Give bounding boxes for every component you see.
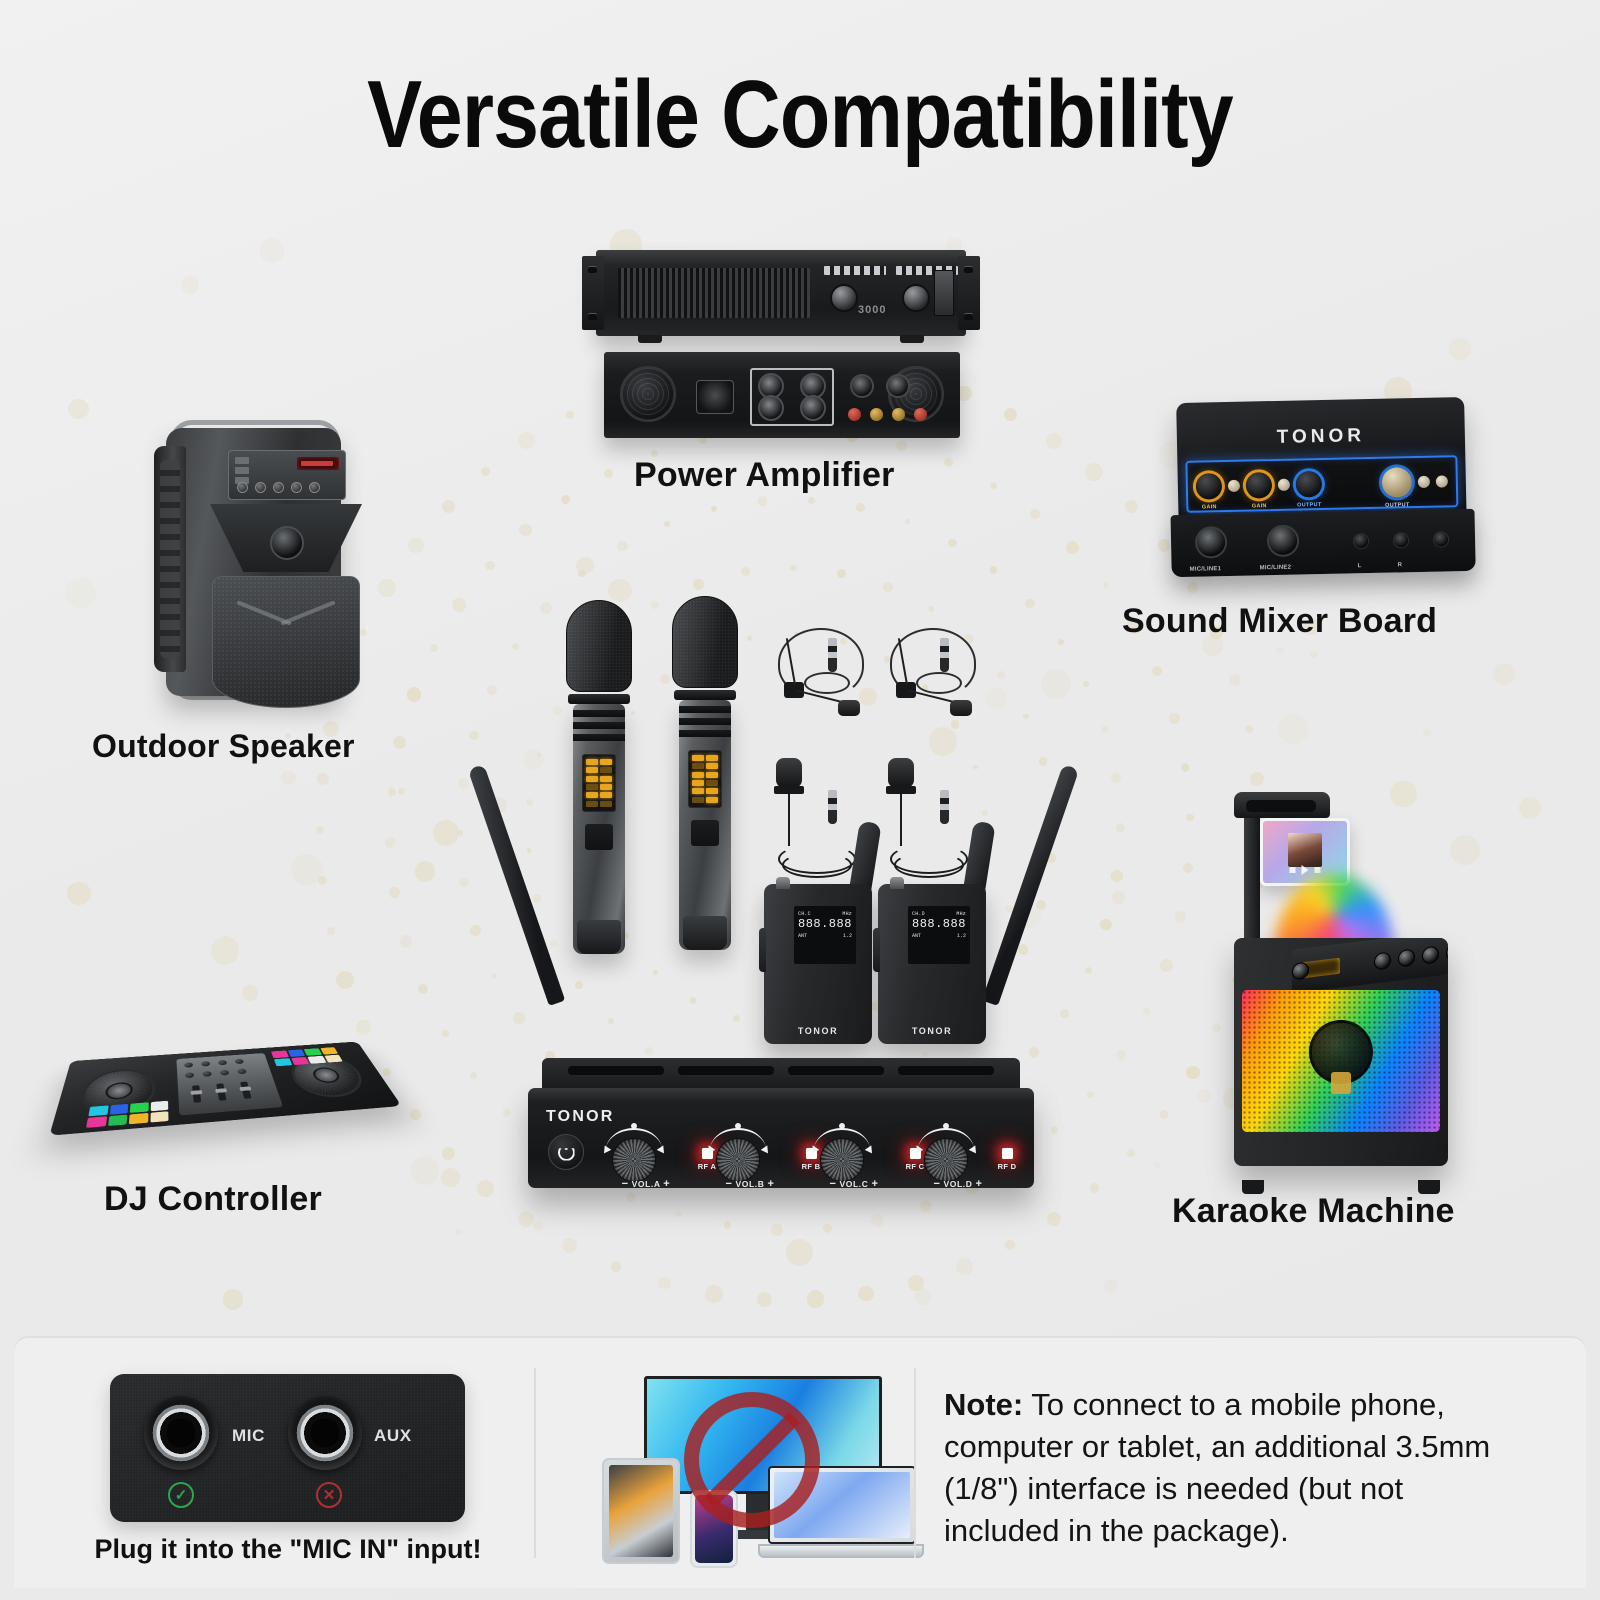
speaker-grille xyxy=(212,576,360,708)
decorative-dot xyxy=(1101,726,1108,733)
decorative-dot xyxy=(1187,582,1198,593)
jack-panel-caption: Plug it into the "MIC IN" input! xyxy=(28,1534,548,1565)
decorative-dot xyxy=(920,1200,932,1212)
decorative-dot xyxy=(503,1109,511,1117)
decorative-dot xyxy=(1116,1050,1126,1060)
power-icon xyxy=(558,1144,575,1161)
mixer-jack-label-1: MIC/LINE1 xyxy=(1190,566,1222,573)
volume-knob-b[interactable] xyxy=(716,1138,760,1182)
decorative-dot xyxy=(561,495,570,504)
decorative-dot xyxy=(1039,757,1047,765)
decorative-dot xyxy=(470,925,481,936)
decorative-dot xyxy=(948,539,957,548)
bodypack-level: 1.2 xyxy=(843,933,852,939)
decorative-dot xyxy=(537,753,542,758)
volume-knob-d[interactable] xyxy=(924,1138,968,1182)
decorative-dot xyxy=(481,467,490,476)
decorative-dot xyxy=(771,1224,783,1236)
decorative-dot xyxy=(457,830,464,837)
mic-grille-head xyxy=(672,596,738,688)
dj-pad xyxy=(287,1049,305,1057)
mic-indicator-window xyxy=(691,820,719,846)
mic-band xyxy=(573,710,625,717)
receiver-charging-slot xyxy=(568,1066,664,1075)
receiver-front-face: TONOR − VOL.A + RF A xyxy=(528,1088,1034,1188)
headset-microphone-2 xyxy=(884,624,984,734)
karaoke-knob xyxy=(1446,943,1448,962)
mic-grille-head xyxy=(566,600,632,692)
decorative-dot xyxy=(733,1015,740,1022)
decorative-dot xyxy=(1183,863,1193,873)
decorative-dot xyxy=(442,1030,449,1037)
dj-channel-fader xyxy=(216,1083,226,1100)
plus-icon: + xyxy=(663,1178,670,1190)
decorative-dot xyxy=(418,984,429,995)
aux-input-jack[interactable] xyxy=(288,1396,362,1470)
decorative-dot xyxy=(1046,433,1062,449)
dj-pad xyxy=(304,1048,322,1056)
receiver-power-button[interactable] xyxy=(548,1134,584,1170)
decorative-dot xyxy=(956,1258,973,1275)
decorative-dot xyxy=(317,773,329,785)
mic-aux-jack-panel: MIC ✓ AUX ✕ xyxy=(110,1374,465,1522)
decorative-dot xyxy=(905,519,910,524)
dj-knob xyxy=(218,1060,227,1065)
speaker-tweeter xyxy=(270,526,304,560)
decorative-dot xyxy=(242,985,259,1002)
dj-pad xyxy=(130,1102,149,1113)
decorative-dot xyxy=(608,1018,614,1024)
mixer-brand-logo: TONOR xyxy=(1177,423,1465,451)
decorative-dot xyxy=(181,276,199,294)
dj-pad xyxy=(320,1047,338,1055)
decorative-dot xyxy=(385,837,396,848)
rack-ear-left xyxy=(582,256,604,330)
decorative-dot xyxy=(68,399,89,420)
note-body: To connect to a mobile phone, computer o… xyxy=(944,1387,1490,1548)
receiver-charging-slot xyxy=(898,1066,994,1075)
dj-knob xyxy=(237,1069,247,1075)
knob-dot xyxy=(943,1123,949,1129)
mixer-headphone-jack xyxy=(1433,531,1449,547)
decorative-dot xyxy=(1083,681,1089,687)
karaoke-logo xyxy=(1331,1072,1351,1094)
label-sound-mixer-board: Sound Mixer Board xyxy=(1122,602,1437,641)
decorative-dot xyxy=(430,644,438,652)
decorative-dot xyxy=(260,238,284,262)
decorative-dot xyxy=(604,469,613,478)
decorative-dot xyxy=(576,557,593,574)
volume-label-d: − VOL.D + xyxy=(910,1178,1006,1190)
speaker-button xyxy=(235,457,249,464)
mic-collar xyxy=(674,690,736,700)
media-controls xyxy=(1290,865,1321,875)
unsupported-devices-illustration xyxy=(600,1372,916,1568)
decorative-dot xyxy=(316,826,325,835)
lav-capsule xyxy=(776,758,802,788)
infographic-page: Versatile Compatibility xyxy=(0,0,1600,1600)
speaker-knob xyxy=(237,482,248,493)
decorative-dot xyxy=(1029,1047,1040,1058)
mixer-jack-label-4: R xyxy=(1398,562,1403,568)
decorative-dot xyxy=(837,569,846,578)
bodypack-belt-clip xyxy=(759,928,766,972)
receiver-channel-a: − VOL.A + xyxy=(598,1132,694,1188)
decorative-dot xyxy=(856,503,866,513)
volume-label-a: − VOL.A + xyxy=(598,1178,694,1190)
decorative-dot xyxy=(410,1109,421,1120)
mixer-jack-label-3: L xyxy=(1358,563,1362,569)
decorative-dot xyxy=(807,1290,825,1308)
mixer-gain-knob-2: GAIN xyxy=(1246,472,1273,499)
decorative-dot xyxy=(1186,1066,1200,1080)
decorative-dot xyxy=(1087,1091,1094,1098)
mixer-knob-label: GAIN xyxy=(1202,504,1217,510)
amplifier-led-strip xyxy=(824,266,886,275)
decorative-dot xyxy=(660,674,670,684)
decorative-dot xyxy=(1104,1279,1118,1293)
lav-35mm-plug xyxy=(940,790,949,824)
decorative-dot xyxy=(1493,663,1515,685)
speaker-knob xyxy=(309,482,320,493)
decorative-dot xyxy=(400,935,413,948)
bodypack-transmitter-2: CH.D MHz 888.888 ANT 1.2 TONOR xyxy=(878,884,986,1044)
decorative-dot xyxy=(645,1047,652,1054)
rf-led-d xyxy=(1002,1148,1013,1159)
dj-controller-image xyxy=(58,1000,398,1170)
wireless-receiver-base: TONOR − VOL.A + RF A xyxy=(528,1058,1034,1188)
bodypack-case: CH.D MHz 888.888 ANT 1.2 TONOR xyxy=(878,884,986,1044)
decorative-dot xyxy=(1519,797,1541,819)
decorative-dot xyxy=(871,1214,884,1227)
decorative-dot xyxy=(575,981,584,990)
note-prefix: Note: xyxy=(944,1387,1023,1422)
bodypack-brand-logo: TONOR xyxy=(764,1026,872,1036)
decorative-dot xyxy=(518,1211,534,1227)
lavalier-microphone-1 xyxy=(772,758,862,878)
decorative-dot xyxy=(442,500,455,513)
decorative-dot xyxy=(540,602,552,614)
tablet-image xyxy=(602,1458,680,1564)
decorative-dot xyxy=(1116,823,1125,832)
outdoor-speaker-image xyxy=(148,410,363,710)
play-icon xyxy=(1302,865,1309,875)
band-divider-left xyxy=(534,1368,536,1558)
decorative-dot xyxy=(883,582,893,592)
knob-dot xyxy=(839,1123,845,1129)
decorative-dot xyxy=(411,1156,440,1185)
decorative-dot xyxy=(67,882,91,906)
mic-band xyxy=(679,730,731,737)
mic-collar xyxy=(568,694,630,704)
mixer-top-shell: TONOR GAIN GAIN OUTPUT OUTPUT xyxy=(1176,397,1466,521)
power-amplifier-rear-image xyxy=(604,352,960,438)
receiver-charging-slot xyxy=(788,1066,884,1075)
decorative-dot xyxy=(1025,599,1035,609)
amplifier-power-inlet xyxy=(696,380,734,414)
amplifier-model-number: 3000 xyxy=(858,304,886,316)
decorative-dot xyxy=(990,482,997,489)
decorative-dot xyxy=(741,567,750,576)
decorative-dot xyxy=(986,688,1007,709)
check-icon: ✓ xyxy=(168,1482,194,1508)
aux-jack-label: AUX xyxy=(374,1426,412,1446)
rack-ear-right xyxy=(958,256,980,330)
dj-pad xyxy=(108,1115,128,1126)
mic-indicator-window xyxy=(585,824,613,850)
decorative-dot xyxy=(553,706,562,715)
decorative-dot xyxy=(1310,651,1318,659)
album-artwork xyxy=(1288,833,1322,867)
volume-text-d: VOL.D xyxy=(944,1179,973,1189)
binding-post xyxy=(848,408,861,421)
binding-post xyxy=(870,408,883,421)
trs-input xyxy=(800,395,826,421)
decorative-dot xyxy=(1423,729,1431,737)
decorative-dot xyxy=(626,1192,636,1202)
volume-text-c: VOL.C xyxy=(840,1179,869,1189)
decorative-dot xyxy=(550,940,557,947)
karaoke-knob xyxy=(1398,948,1415,967)
decorative-dot xyxy=(1169,713,1180,724)
mixer-echo-knob xyxy=(1436,475,1448,487)
dj-knob xyxy=(184,1062,193,1068)
decorative-dot xyxy=(1127,1149,1135,1157)
speaker-knob-row xyxy=(237,482,320,493)
decorative-dot xyxy=(1005,1240,1015,1250)
bodypack-transmitter-1: CH.C MHz 888.888 ANT 1.2 TONOR xyxy=(764,884,872,1044)
minus-icon: − xyxy=(934,1178,941,1190)
decorative-dot xyxy=(724,1221,732,1229)
bodypack-display: CH.C MHz 888.888 ANT 1.2 xyxy=(794,906,856,964)
karaoke-knob xyxy=(1374,951,1391,970)
dj-channel-fader xyxy=(192,1085,201,1103)
bodypack-mic-input xyxy=(890,877,904,889)
label-dj-controller: DJ Controller xyxy=(104,1180,322,1219)
decorative-dot xyxy=(858,1286,873,1301)
dj-knob xyxy=(202,1071,212,1077)
decorative-dot xyxy=(758,496,768,506)
speaker-display xyxy=(297,457,339,470)
next-icon xyxy=(1315,867,1321,873)
rf-indicator-d: RF D xyxy=(988,1148,1026,1171)
decorative-dot xyxy=(491,973,497,979)
decorative-dot xyxy=(990,566,998,574)
decorative-dot xyxy=(915,1288,932,1305)
headset-35mm-plug xyxy=(828,638,837,672)
decorative-dot xyxy=(281,771,295,785)
previous-icon xyxy=(1290,867,1296,873)
decorative-dot xyxy=(1229,674,1241,686)
bodypack-frequency: 888.888 xyxy=(912,917,966,932)
handheld-microphone-1 xyxy=(566,600,632,954)
decorative-dot xyxy=(1160,959,1173,972)
lav-clip xyxy=(886,786,916,794)
dj-deck-surface xyxy=(49,1042,401,1136)
decorative-dot xyxy=(1018,944,1029,955)
decorative-dot xyxy=(808,497,815,504)
decorative-dot xyxy=(693,579,704,590)
volume-label-c: − VOL.C + xyxy=(806,1178,902,1190)
decorative-dot xyxy=(1060,1009,1069,1018)
decorative-dot xyxy=(458,778,470,790)
decorative-dot xyxy=(526,799,533,806)
decorative-dot xyxy=(578,570,585,577)
decorative-dot xyxy=(611,1261,622,1272)
dj-pad xyxy=(274,1058,292,1066)
bodypack-brand-logo: TONOR xyxy=(878,1026,986,1036)
decorative-dot xyxy=(1198,1089,1212,1103)
amplifier-combo-input-group xyxy=(750,368,834,426)
decorative-dot xyxy=(1047,1212,1061,1226)
mixer-line-out-l xyxy=(1353,533,1369,549)
decorative-dot xyxy=(527,848,532,853)
decorative-dot xyxy=(690,997,697,1004)
decorative-dot xyxy=(757,1292,772,1307)
mixer-line-out-r xyxy=(1393,532,1409,548)
dj-knob xyxy=(201,1061,210,1067)
mixer-inst-knob-1 xyxy=(1228,480,1240,492)
bodypack-antenna-indicator: ANT xyxy=(912,933,921,939)
bodypack-case: CH.C MHz 888.888 ANT 1.2 TONOR xyxy=(764,884,872,1044)
mixer-gain-knob-1: GAIN xyxy=(1196,473,1223,500)
decorative-dot xyxy=(1112,891,1125,904)
decorative-dot xyxy=(1058,639,1064,645)
dj-channel-fader xyxy=(240,1082,251,1099)
decorative-dot xyxy=(908,1275,925,1292)
mixer-inst-knob-2 xyxy=(1278,479,1290,491)
rf-label-d: RF D xyxy=(988,1162,1026,1171)
headset-earloop xyxy=(804,672,850,694)
speaker-buttons xyxy=(235,457,249,484)
decorative-dot xyxy=(415,861,436,882)
mic-battery-cap xyxy=(577,920,621,954)
decorative-dot xyxy=(562,1238,577,1253)
bodypack-antenna-indicator: ANT xyxy=(798,933,807,939)
dj-pad xyxy=(307,1056,325,1064)
decorative-dot xyxy=(487,685,497,695)
amplifier-foot xyxy=(638,335,662,343)
volume-knob-a[interactable] xyxy=(612,1138,656,1182)
minus-icon: − xyxy=(622,1178,629,1190)
mixer-front-panel: MIC/LINE1 MIC/LINE2 L R xyxy=(1170,509,1475,577)
decorative-dot xyxy=(896,441,907,452)
decorative-dot xyxy=(442,1147,455,1160)
dj-pad xyxy=(86,1116,107,1128)
speaker-body xyxy=(166,428,341,696)
mixer-master-output-knob: OUTPUT xyxy=(1382,467,1413,498)
receiver-antenna-left xyxy=(468,764,565,1006)
bottom-info-band: MIC ✓ AUX ✕ Plug it into the "MIC IN" in… xyxy=(14,1338,1586,1588)
headset-capsule xyxy=(950,700,972,716)
decorative-dot xyxy=(1160,1110,1169,1119)
lav-cable xyxy=(788,794,790,846)
plus-icon: + xyxy=(767,1178,774,1190)
speakon-output xyxy=(886,374,910,398)
label-outdoor-speaker: Outdoor Speaker xyxy=(92,728,355,765)
decorative-dot xyxy=(533,1221,543,1231)
mixer-knob-label: GAIN xyxy=(1252,503,1267,509)
mixer-knob-label: OUTPUT xyxy=(1385,502,1410,509)
decorative-dot xyxy=(408,538,424,554)
bodypack-frequency: 888.888 xyxy=(798,917,852,932)
bodypack-display: CH.D MHz 888.888 ANT 1.2 xyxy=(908,906,970,964)
label-karaoke-machine: Karaoke Machine xyxy=(1172,1192,1455,1231)
decorative-dot xyxy=(452,598,466,612)
volume-text-b: VOL.B xyxy=(736,1179,765,1189)
mixer-control-strip: GAIN GAIN OUTPUT OUTPUT xyxy=(1185,455,1458,513)
lav-cable xyxy=(900,794,902,846)
page-title: Versatile Compatibility xyxy=(112,60,1488,170)
amplifier-gain-knob xyxy=(902,284,930,312)
amplifier-fan xyxy=(620,366,676,422)
amplifier-power-switch xyxy=(934,270,954,316)
dj-pad xyxy=(324,1055,343,1063)
receiver-antenna-right xyxy=(982,764,1079,1006)
knob-dot xyxy=(735,1123,741,1129)
decorative-dot xyxy=(982,810,988,816)
mic-battery-cap xyxy=(683,916,727,950)
decorative-dot xyxy=(566,411,575,420)
decorative-dot xyxy=(944,458,953,467)
mixer-jack-label-2: MIC/LINE2 xyxy=(1260,565,1292,572)
decorative-dot xyxy=(1051,1126,1059,1134)
decorative-dot xyxy=(523,749,544,770)
decorative-dot xyxy=(398,788,405,795)
decorative-dot xyxy=(388,788,396,796)
mic-body xyxy=(573,704,625,954)
lav-35mm-plug xyxy=(828,790,837,824)
volume-label-b: − VOL.B + xyxy=(702,1178,798,1190)
karaoke-cabinet xyxy=(1234,938,1448,1166)
decorative-dot xyxy=(1245,725,1254,734)
lav-capsule xyxy=(888,758,914,788)
receiver-top-deck xyxy=(542,1058,1020,1092)
dj-mixer-section xyxy=(176,1053,283,1115)
headset-35mm-plug xyxy=(940,638,949,672)
decorative-dot xyxy=(1090,1183,1100,1193)
decorative-dot xyxy=(1066,541,1079,554)
decorative-dot xyxy=(675,1211,682,1218)
decorative-dot xyxy=(658,1277,671,1290)
prohibited-icon xyxy=(684,1392,820,1528)
dj-knob xyxy=(185,1072,194,1078)
dj-pad xyxy=(88,1105,108,1116)
decorative-dot xyxy=(1111,773,1121,783)
headset-microphone-1 xyxy=(772,624,872,734)
decorative-dot xyxy=(1276,647,1284,655)
decorative-dot xyxy=(291,854,323,886)
power-amplifier-front-image: 3000 xyxy=(596,250,966,336)
amplifier-gain-knob xyxy=(830,284,858,312)
plus-icon: + xyxy=(975,1178,982,1190)
receiver-channel-c: − VOL.C + xyxy=(806,1132,902,1188)
decorative-dot xyxy=(1152,666,1163,677)
decorative-dot xyxy=(790,565,797,572)
decorative-dot xyxy=(653,970,658,975)
decorative-dot xyxy=(336,971,354,989)
bodypack-belt-clip xyxy=(873,928,880,972)
decorative-dot xyxy=(513,1012,525,1024)
volume-knob-c[interactable] xyxy=(820,1138,864,1182)
decorative-dot xyxy=(1111,870,1123,882)
decorative-dot xyxy=(1175,911,1187,923)
dj-knob xyxy=(220,1070,230,1076)
decorative-dot xyxy=(1186,814,1194,822)
mixer-knob-label: OUTPUT xyxy=(1297,502,1322,509)
mic-input-jack[interactable] xyxy=(144,1396,218,1470)
speaker-button xyxy=(235,467,249,474)
